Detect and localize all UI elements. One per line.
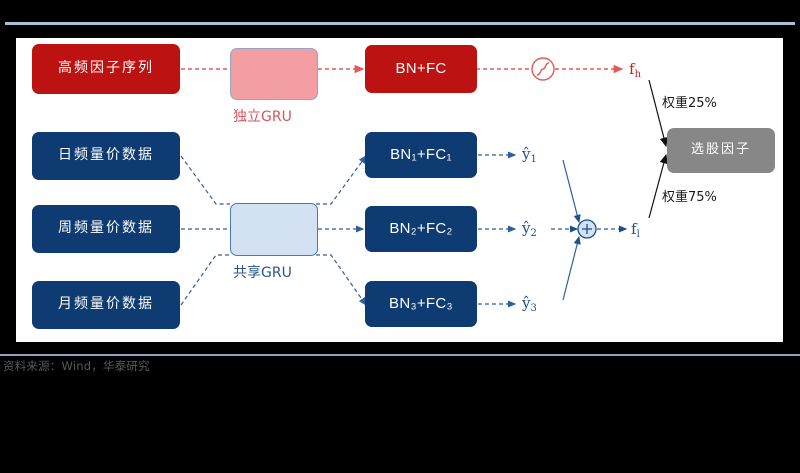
node-bn-fc-3-label: BN₃+FC₃ — [389, 296, 453, 313]
source-divider-rule — [0, 354, 800, 356]
label-y-hat-3: ŷ3 — [522, 294, 537, 312]
label-weight-low-freq: 权重75% — [662, 186, 717, 205]
node-bn-fc-2[interactable]: BN₂+FC₂ — [365, 206, 477, 252]
node-bn-fc-high-freq[interactable]: BN+FC — [365, 45, 477, 93]
label-y-hat-2: ŷ2 — [522, 219, 537, 237]
node-weekly-input-label: 周频量价数据 — [58, 221, 154, 236]
source-note: 资料来源：Wind，华泰研究 — [3, 358, 150, 374]
node-monthly-input-label: 月频量价数据 — [58, 297, 154, 312]
label-f-low: fl — [631, 220, 640, 238]
node-bn-fc-high-freq-label: BN+FC — [395, 61, 446, 78]
label-shared-gru: 共享GRU — [233, 262, 292, 282]
node-weekly-input[interactable]: 周频量价数据 — [32, 205, 180, 253]
node-shared-gru[interactable] — [230, 203, 318, 256]
figure-root: 高频因子序列 独立GRU BN+FC fh 权重25% 选股因子 权重75% 日… — [0, 0, 800, 473]
label-weight-high-freq: 权重25% — [662, 92, 717, 111]
node-independent-gru[interactable] — [230, 48, 318, 100]
node-bn-fc-2-label: BN₂+FC₂ — [389, 221, 452, 238]
diagram-canvas: 高频因子序列 独立GRU BN+FC fh 权重25% 选股因子 权重75% 日… — [16, 38, 783, 342]
node-daily-input[interactable]: 日频量价数据 — [32, 132, 180, 180]
node-monthly-input[interactable]: 月频量价数据 — [32, 281, 180, 329]
node-bn-fc-1[interactable]: BN₁+FC₁ — [365, 132, 477, 178]
node-bn-fc-3[interactable]: BN₃+FC₃ — [365, 281, 477, 327]
label-independent-gru: 独立GRU — [233, 106, 292, 126]
label-y-hat-1: ŷ1 — [522, 145, 537, 163]
top-divider-rule — [5, 22, 795, 25]
node-high-freq-input-label: 高频因子序列 — [58, 61, 154, 76]
node-daily-input-label: 日频量价数据 — [58, 148, 154, 163]
node-output-stock-factor[interactable]: 选股因子 — [667, 128, 775, 173]
node-high-freq-input[interactable]: 高频因子序列 — [32, 44, 180, 94]
node-bn-fc-1-label: BN₁+FC₁ — [390, 147, 452, 164]
label-f-high: fh — [629, 60, 641, 78]
node-output-stock-factor-label: 选股因子 — [691, 143, 751, 157]
